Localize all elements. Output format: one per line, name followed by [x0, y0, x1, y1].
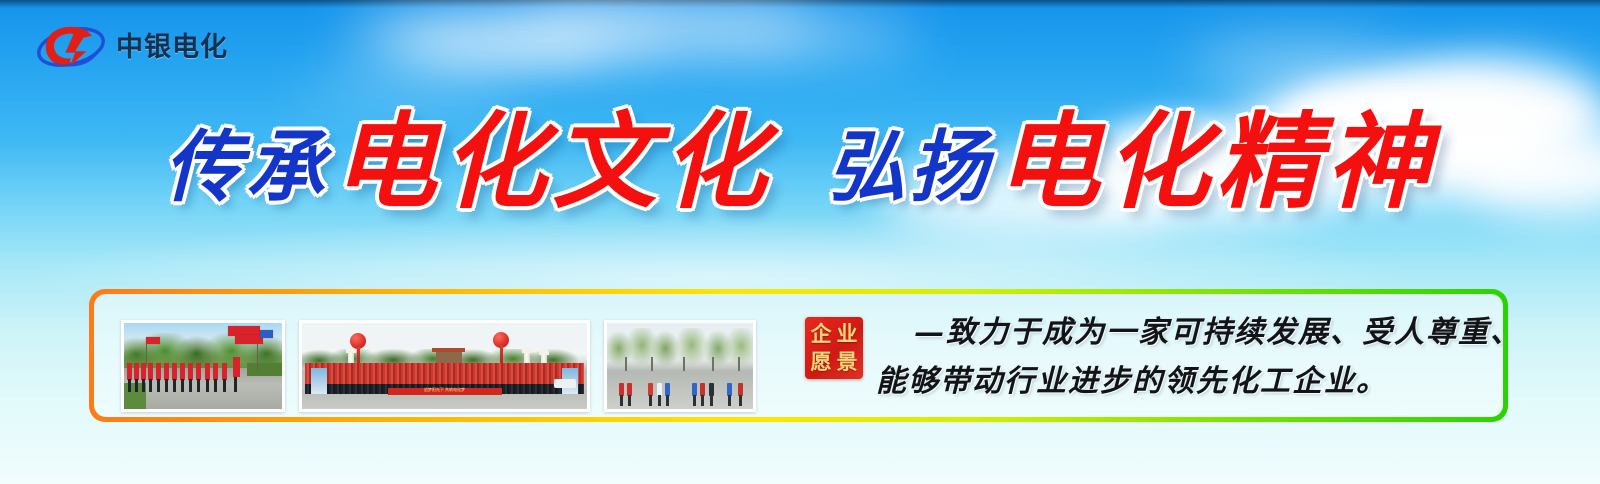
- vision-tagline-line-1: —致力于成为一家可持续发展、受人尊重、: [876, 308, 1496, 357]
- photo-parade-crowd: [127, 363, 263, 392]
- photo-parade[interactable]: [121, 320, 285, 412]
- headline-segment-3: 弘扬: [827, 129, 991, 207]
- photo-group-banner-text: 追梦阳光下 共筑电化梦: [388, 388, 502, 396]
- seal-char-2: 业: [837, 324, 858, 345]
- seal-char-1: 企: [811, 324, 832, 345]
- headline-segment-2: 电化文化: [333, 110, 773, 214]
- seal-char-4: 景: [837, 352, 858, 373]
- headline: 传承 电化文化 弘扬 电化精神: [0, 110, 1600, 214]
- headline-segment-4: 电化精神: [996, 110, 1436, 214]
- brand-wordmark: 中银电化: [116, 34, 228, 61]
- cloud-layer-right: [940, 40, 1600, 240]
- content-panel: 追梦阳光下 共筑电化梦: [94, 294, 1503, 417]
- brand-logo[interactable]: 中银电化: [36, 20, 228, 74]
- photo-basketball-scene: [607, 323, 753, 409]
- vision-seal: 企 业 愿 景: [805, 317, 863, 379]
- photo-group-scene: 追梦阳光下 共筑电化梦: [302, 323, 587, 409]
- vision-tagline-line-2: 能够带动行业进步的领先化工企业。: [876, 357, 1496, 406]
- cloud-layer-left: [340, 0, 960, 140]
- vision-tagline: —致力于成为一家可持续发展、受人尊重、 能够带动行业进步的领先化工企业。: [876, 308, 1496, 406]
- photo-parade-scene: [124, 323, 282, 409]
- photo-group-banner: 追梦阳光下 共筑电化梦: [388, 388, 502, 396]
- banner-canvas: 中银电化 传承 电化文化 弘扬 电化精神: [0, 0, 1600, 484]
- seal-char-3: 愿: [811, 352, 832, 373]
- photo-group[interactable]: 追梦阳光下 共筑电化梦: [299, 320, 590, 412]
- zhongyin-dianhua-logo-icon: [36, 20, 106, 74]
- content-panel-frame: 追梦阳光下 共筑电化梦: [89, 289, 1508, 422]
- headline-segment-1: 传承: [164, 129, 328, 207]
- photo-basketball[interactable]: [604, 320, 756, 412]
